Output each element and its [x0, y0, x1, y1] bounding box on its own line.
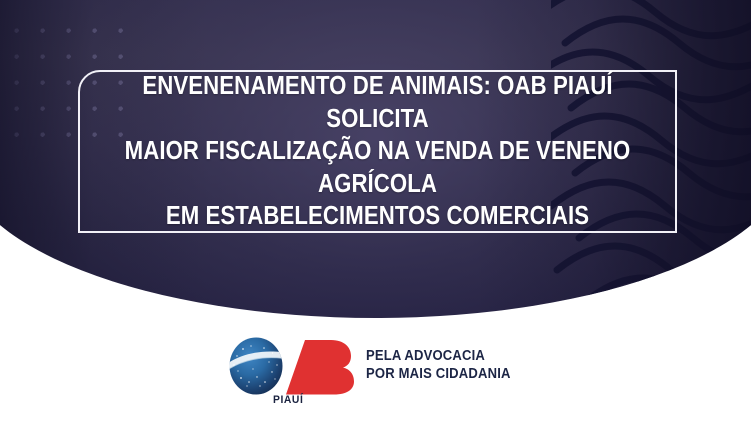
oab-logo-mark: PIAUÍ: [225, 336, 360, 418]
letter-a-icon: [286, 340, 312, 395]
page-title: ENVENENAMENTO DE ANIMAIS: OAB PIAUÍ SOLI…: [119, 70, 637, 233]
banner-root: ENVENENAMENTO DE ANIMAIS: OAB PIAUÍ SOLI…: [0, 0, 751, 431]
globe-icon: [225, 338, 288, 395]
logo-section-label: PIAUÍ: [273, 394, 303, 406]
logo-tagline: PELA ADVOCACIA POR MAIS CIDADANIA: [366, 348, 511, 383]
headline-frame: ENVENENAMENTO DE ANIMAIS: OAB PIAUÍ SOLI…: [78, 70, 677, 233]
oab-logo-lockup: PIAUÍ PELA ADVOCACIA POR MAIS CIDADANIA: [0, 336, 751, 418]
letter-b-icon: [309, 340, 354, 395]
oab-letters-icon: [225, 336, 360, 398]
